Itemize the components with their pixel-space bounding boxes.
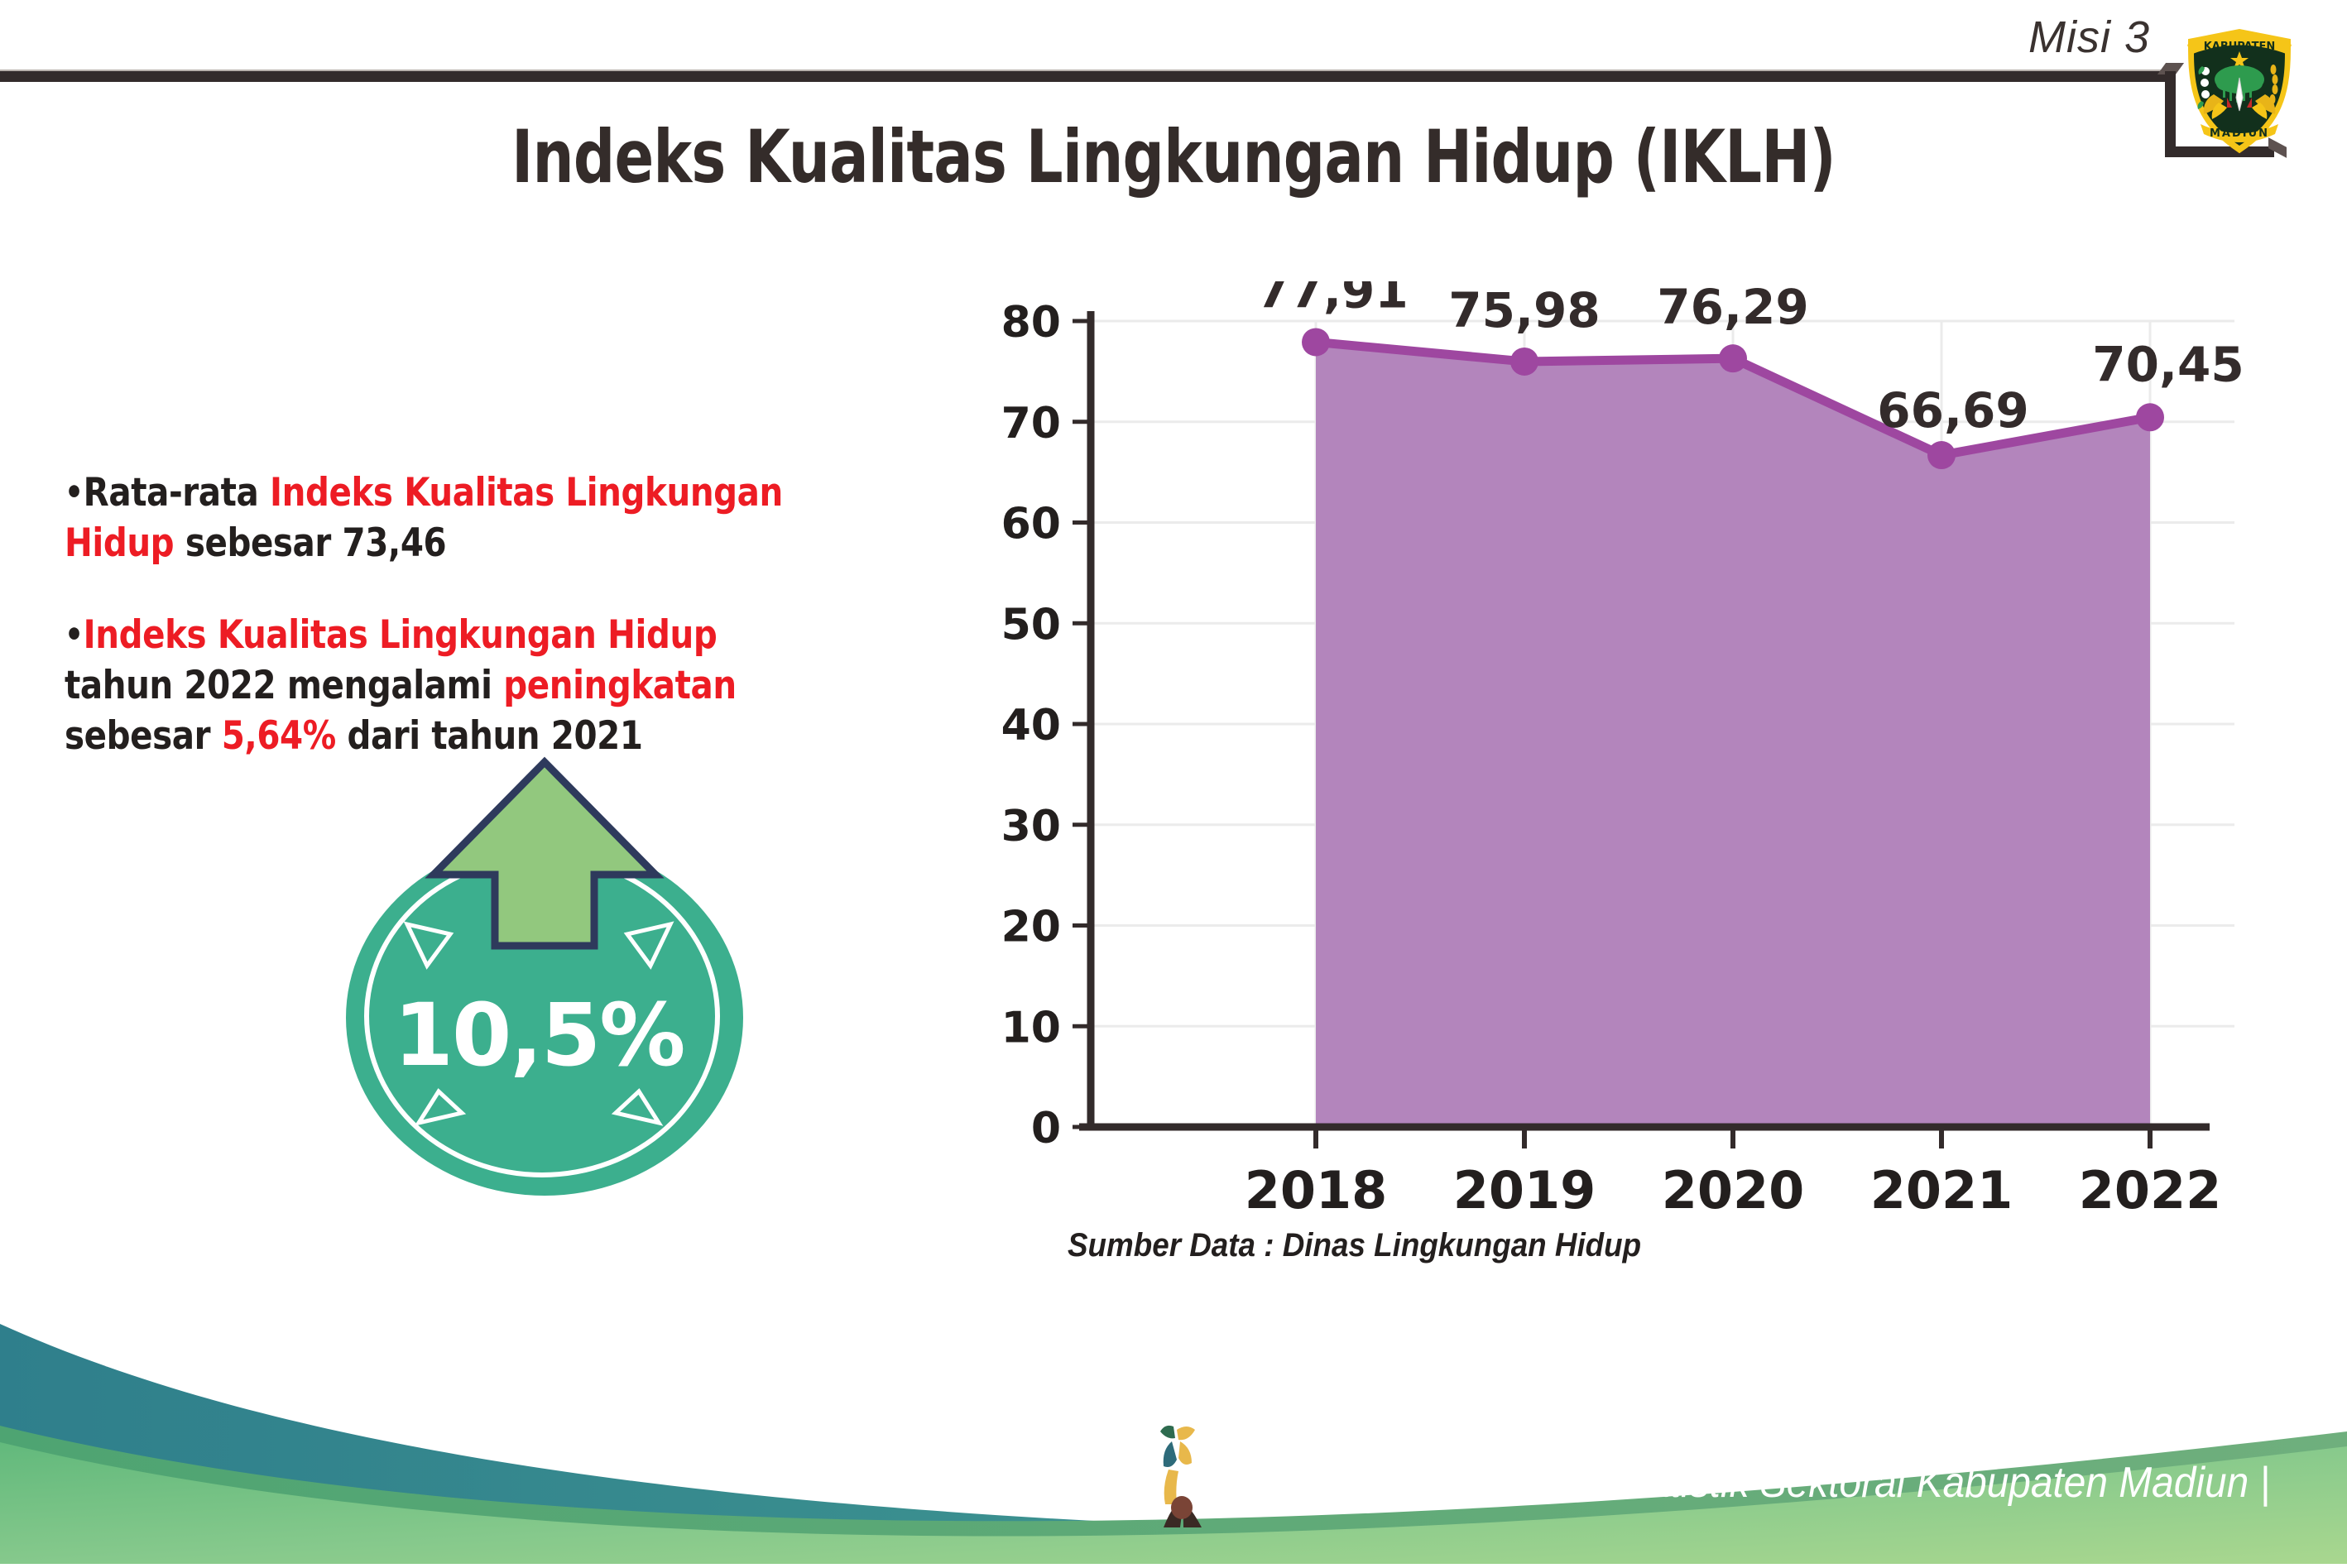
bullet-dot: •	[65, 614, 84, 655]
y-axis-tick-label: 70	[1001, 399, 1061, 448]
chart-area-series	[1316, 342, 2150, 1127]
data-point-label: 66,69	[1877, 382, 2028, 439]
bullet-highlight: 5,64%	[222, 713, 336, 759]
chart-canvas: 01020304050607080 20182019202020212022 7…	[968, 281, 2276, 1216]
header-bracket-stem	[2165, 71, 2176, 157]
page-title: Indeks Kualitas Lingkungan Hidup (IKLH)	[235, 114, 2113, 199]
chart-y-axis-labels: 01020304050607080	[1001, 298, 1061, 1153]
bullet-dot: •	[65, 472, 84, 512]
y-axis-tick-label: 60	[1001, 500, 1061, 549]
svg-text:MADIUN: MADIUN	[2210, 127, 2269, 140]
data-point-label: 77,91	[1256, 281, 1408, 319]
kabupaten-madiun-emblem: KABUPATEN	[2177, 22, 2301, 159]
data-point	[1927, 441, 1956, 469]
list-item: •Rata-rata Indeks Kualitas Lingkungan Hi…	[65, 468, 819, 568]
y-axis-tick-label: 10	[1001, 1003, 1061, 1053]
list-item: •Indeks Kualitas Lingkungan Hidup tahun …	[65, 610, 819, 761]
y-axis-tick-label: 40	[1001, 701, 1061, 750]
svg-text:KABUPATEN: KABUPATEN	[2204, 41, 2276, 53]
footer-text: Media Infografis Data Statistik Sektoral…	[1223, 1458, 2270, 1508]
data-point-label: 70,45	[2092, 336, 2244, 392]
bullet-plain: sebesar	[65, 713, 222, 759]
bullet-list: •Rata-rata Indeks Kualitas Lingkungan Hi…	[65, 468, 942, 761]
y-axis-tick-label: 50	[1001, 600, 1061, 650]
bullet-highlight: Indeks Kualitas Lingkungan Hidup	[84, 612, 718, 658]
increase-badge: 10,5%	[328, 749, 750, 1196]
chart-x-axis-labels: 20182019202020212022	[1245, 1160, 2222, 1216]
badge-corner-arrows	[328, 749, 750, 1196]
bullet-plain: sebesar 73,46	[174, 520, 446, 566]
data-point	[1302, 328, 1330, 356]
x-axis-tick-label: 2018	[1245, 1160, 1388, 1216]
statistik-figure-logo	[1144, 1422, 1220, 1529]
data-point	[1719, 344, 1747, 372]
data-point	[1510, 348, 1538, 376]
bullet-text-0: Rata-rata Indeks Kualitas Lingkungan Hid…	[65, 470, 783, 566]
footer: Media Infografis Data Statistik Sektoral…	[0, 1291, 2347, 1564]
bullet-plain: tahun 2022 mengalami	[65, 663, 503, 708]
data-point-label: 76,29	[1657, 281, 1808, 335]
bullet-highlight: peningkatan	[503, 663, 736, 708]
data-point	[2136, 403, 2164, 431]
badge-value: 10,5%	[328, 985, 750, 1086]
iklh-area-chart: 01020304050607080 20182019202020212022 7…	[968, 281, 2276, 1216]
header-rule	[0, 71, 2175, 82]
misi-label: Misi 3	[2028, 12, 2150, 63]
x-axis-tick-label: 2019	[1453, 1160, 1596, 1216]
y-axis-tick-label: 0	[1031, 1104, 1061, 1153]
y-axis-tick-label: 30	[1001, 802, 1061, 851]
source-note: Sumber Data : Dinas Lingkungan Hidup	[1068, 1227, 1641, 1264]
bullet-text-1: Indeks Kualitas Lingkungan Hidup tahun 2…	[65, 612, 737, 759]
data-point-label: 75,98	[1448, 282, 1600, 338]
y-axis-tick-label: 80	[1001, 298, 1061, 348]
x-axis-tick-label: 2021	[1870, 1160, 2013, 1216]
x-axis-tick-label: 2022	[2079, 1160, 2222, 1216]
y-axis-tick-label: 20	[1001, 903, 1061, 952]
x-axis-tick-label: 2020	[1662, 1160, 1805, 1216]
bullet-plain: Rata-rata	[84, 470, 270, 515]
